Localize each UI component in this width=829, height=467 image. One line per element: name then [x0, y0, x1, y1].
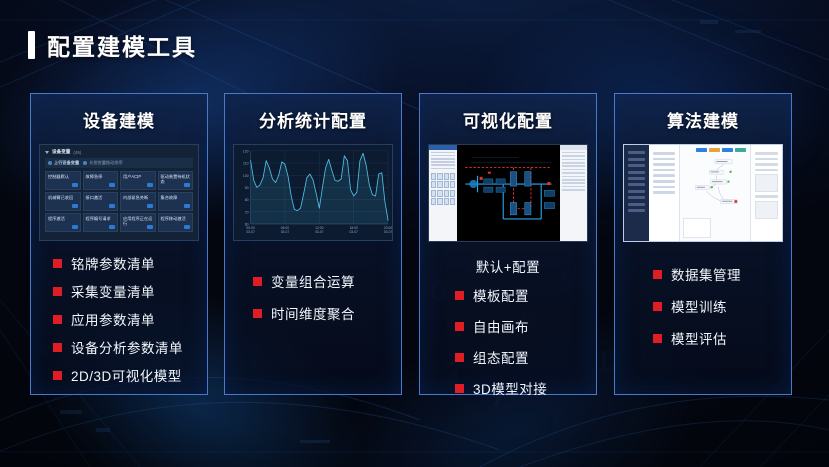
palette-swatch[interactable] — [450, 181, 455, 188]
bullet-square-icon — [653, 270, 662, 279]
info-icon — [83, 161, 87, 165]
status-badge — [72, 204, 78, 209]
component-list-item[interactable] — [653, 191, 676, 194]
variable-cell-label: 用户A口P — [123, 174, 141, 179]
variable-cell[interactable]: 故障急停 — [83, 171, 119, 190]
pipeline-diagram — [457, 145, 560, 242]
status-badge — [184, 183, 190, 188]
list-item-label: 模板配置 — [473, 285, 529, 305]
list-item-label: 数据集管理 — [671, 264, 741, 284]
card-algorithm-modeling[interactable]: 算法建模 — [614, 93, 792, 395]
list-item-label: 自由画布 — [473, 316, 529, 336]
variable-cell[interactable]: 用户A口P — [120, 171, 156, 190]
list-item-label: 采集变量清单 — [71, 281, 155, 301]
status-badge — [184, 225, 190, 230]
svg-text:100: 100 — [243, 174, 249, 178]
status-badge — [109, 183, 115, 188]
flow-graph — [680, 145, 750, 213]
list-item: 铭牌参数清单 — [53, 253, 207, 273]
bullet-square-icon — [455, 353, 464, 362]
svg-text:03-07: 03-07 — [246, 230, 255, 234]
card-header: 设备建模 — [31, 94, 207, 144]
variable-cell[interactable]: 程序移动激活 — [158, 213, 194, 232]
bullet-square-icon — [53, 371, 62, 380]
bullet-square-icon — [253, 277, 262, 286]
title-accent-bar — [28, 31, 35, 59]
palette-swatch[interactable] — [431, 173, 436, 180]
property-row — [562, 179, 585, 181]
component-list-item[interactable] — [653, 174, 676, 177]
card-screenshot-flow-editor[interactable] — [623, 144, 783, 242]
component-list-item[interactable] — [653, 152, 676, 155]
shape-palette[interactable] — [429, 171, 457, 207]
editor-canvas[interactable] — [457, 145, 560, 241]
property-row — [562, 176, 585, 178]
palette-swatch[interactable] — [437, 181, 442, 188]
list-item: 变量组合运算 — [253, 271, 401, 291]
palette-swatch[interactable] — [450, 190, 455, 197]
sidebar-item[interactable] — [628, 151, 645, 154]
app-sidebar[interactable] — [624, 145, 649, 241]
palette-swatch[interactable] — [431, 198, 436, 205]
chevron-down-icon[interactable] — [45, 151, 49, 154]
panel-title-row: 设备变量 (49) — [45, 149, 193, 155]
variable-cell[interactable]: 驱动装置待机状态 — [158, 171, 194, 190]
card-subheading: 默认+配置 — [420, 256, 596, 276]
card-device-modeling[interactable]: 设备建模 设备变量 (49) 上行设备变量 长按变量拖动排序 — [30, 93, 208, 395]
property-row — [562, 165, 585, 167]
variable-cell-grid: 控制器默认 故障急停 用户A口P 驱动装置待机状态 机械臂已收回 接口激活 内部… — [45, 171, 193, 232]
palette-swatch[interactable] — [444, 173, 449, 180]
variable-cell[interactable]: 应用程序正在运行 — [120, 213, 156, 232]
list-item: 应用参数清单 — [53, 309, 207, 329]
variable-cell-label: 程序移动激活 — [161, 216, 186, 221]
inspector-row — [755, 152, 778, 155]
property-row — [562, 159, 585, 161]
bullet-square-icon — [455, 322, 464, 331]
card-header: 分析统计配置 — [225, 94, 401, 144]
list-item-label: 设备分析参数清单 — [71, 337, 183, 357]
status-badge — [184, 204, 190, 209]
palette-swatch[interactable] — [431, 190, 436, 197]
card-screenshot-scada-editor[interactable] — [428, 144, 588, 242]
sidebar-item[interactable] — [628, 158, 645, 161]
sidebar-item[interactable] — [628, 209, 645, 212]
svg-text:80: 80 — [245, 198, 249, 202]
component-list-item[interactable] — [653, 163, 676, 166]
bullet-square-icon — [653, 302, 662, 311]
component-list-item[interactable] — [653, 180, 676, 183]
card-screenshot-device-variable-table[interactable]: 设备变量 (49) 上行设备变量 长按变量拖动排序 控制器默认 故障急停 — [39, 144, 199, 241]
list-item-label: 变量组合运算 — [271, 271, 355, 291]
inspector-row — [755, 169, 778, 172]
variable-cell[interactable]: 接口激活 — [83, 192, 119, 211]
svg-text:120: 120 — [243, 149, 249, 153]
toolbar-button-publish[interactable] — [722, 148, 733, 152]
list-item-label: 模型训练 — [671, 296, 727, 316]
property-row — [562, 155, 585, 157]
page-title: 配置建模工具 — [47, 28, 197, 62]
card-grid: 设备建模 设备变量 (49) 上行设备变量 长按变量拖动排序 — [0, 93, 829, 396]
list-item: 采集变量清单 — [53, 281, 207, 301]
list-item-label: 2D/3D可视化模型 — [71, 365, 182, 385]
variable-cell[interactable]: 控制器默认 — [45, 171, 81, 190]
card-analysis-statistics[interactable]: 分析统计配置 6070809010011012000:0003-0706:000… — [224, 93, 402, 395]
property-row — [562, 182, 585, 184]
inspector-row — [755, 195, 778, 198]
panel-row — [431, 152, 455, 154]
card-bullet-list: 数据集管理 模型训练 模型评估 — [615, 242, 791, 348]
page-header: 配置建模工具 — [28, 28, 197, 62]
list-item-label: 模型评估 — [671, 328, 727, 348]
bullet-square-icon — [53, 259, 62, 268]
palette-swatch[interactable] — [431, 181, 436, 188]
variable-cell-label: 故障急停 — [86, 174, 103, 179]
component-list-item[interactable] — [653, 158, 676, 161]
palette-swatch[interactable] — [444, 190, 449, 197]
panel-title: 设备变量 — [52, 149, 70, 155]
sidebar-item[interactable] — [628, 196, 645, 199]
list-item-label: 3D模型对接 — [473, 378, 547, 398]
sidebar-item[interactable] — [628, 183, 645, 186]
variable-cell[interactable]: 机械臂已收回 — [45, 192, 81, 211]
list-item-label: 组态配置 — [473, 347, 529, 367]
flow-canvas[interactable] — [680, 145, 750, 241]
list-item: 数据集管理 — [653, 264, 791, 284]
bullet-square-icon — [653, 334, 662, 343]
card-title: 分析统计配置 — [259, 107, 367, 132]
list-item: 组态配置 — [455, 347, 596, 367]
svg-text:90: 90 — [245, 186, 249, 190]
variable-cell-label: 接口激活 — [86, 195, 103, 200]
bullet-square-icon — [53, 287, 62, 296]
variable-cell-label: 机械臂已收回 — [48, 195, 73, 200]
status-badge — [109, 204, 115, 209]
component-list-item[interactable] — [653, 186, 676, 189]
svg-text:70: 70 — [245, 210, 249, 214]
panel-row — [431, 164, 455, 166]
variable-cell-label: 程序激活 — [48, 216, 65, 221]
component-list-item[interactable] — [653, 169, 676, 172]
svg-text:03-07: 03-07 — [315, 230, 324, 234]
editor-right-panel[interactable] — [560, 145, 587, 241]
list-item: 2D/3D可视化模型 — [53, 365, 207, 385]
property-row — [562, 172, 585, 174]
bullet-square-icon — [455, 291, 464, 300]
list-item: 模型训练 — [653, 296, 791, 316]
editor-left-panel[interactable] — [429, 145, 457, 241]
palette-swatch[interactable] — [450, 173, 455, 180]
component-list-panel[interactable] — [649, 145, 681, 241]
panel-row — [431, 161, 455, 163]
card-screenshot-line-chart[interactable]: 6070809010011012000:0003-0706:0003-0712:… — [233, 144, 393, 241]
panel-titlebar — [560, 145, 587, 150]
svg-text:03-07: 03-07 — [384, 230, 392, 234]
palette-swatch[interactable] — [437, 198, 442, 205]
card-header: 可视化配置 — [420, 94, 596, 144]
palette-swatch[interactable] — [450, 198, 455, 205]
status-badge — [147, 225, 153, 230]
variable-cell[interactable]: 内部紧急关断 — [120, 192, 156, 211]
tag-icon — [48, 161, 52, 165]
variable-cell-label: 控制器默认 — [48, 174, 69, 179]
list-item-label: 铭牌参数清单 — [71, 253, 155, 273]
card-title: 设备建模 — [83, 107, 155, 132]
palette-swatch[interactable] — [437, 173, 442, 180]
toolbar-button-save[interactable] — [709, 148, 720, 152]
panel-row — [431, 158, 455, 160]
panel-row — [431, 155, 455, 157]
card-title: 可视化配置 — [463, 107, 553, 132]
bullet-square-icon — [53, 343, 62, 352]
list-item-label: 时间维度聚合 — [271, 303, 355, 323]
svg-text:03-07: 03-07 — [349, 230, 358, 234]
list-item: 模板配置 — [455, 285, 596, 305]
palette-swatch[interactable] — [437, 190, 442, 197]
panel-titlebar — [429, 145, 457, 150]
list-item: 设备分析参数清单 — [53, 337, 207, 357]
inspector-row — [755, 163, 778, 166]
sidebar-item[interactable] — [628, 164, 645, 167]
card-bullet-list: 变量组合运算 时间维度聚合 — [225, 241, 401, 323]
trend-line-chart: 6070809010011012000:0003-0706:0003-0712:… — [234, 145, 392, 240]
drag-sort-label: 长按变量拖动排序 — [89, 160, 123, 166]
bullet-square-icon — [53, 315, 62, 324]
variable-cell-label: 集合故障 — [161, 195, 178, 200]
status-badge — [72, 183, 78, 188]
canvas-toolbar[interactable] — [696, 148, 746, 152]
panel-row — [431, 168, 455, 170]
status-badge — [109, 225, 115, 230]
sidebar-item[interactable] — [628, 177, 645, 180]
list-item: 自由画布 — [455, 316, 596, 336]
minimap[interactable] — [683, 218, 711, 238]
palette-swatch[interactable] — [444, 198, 449, 205]
svg-text:110: 110 — [243, 162, 249, 166]
card-bullet-list: 默认+配置 模板配置 自由画布 组态配置 3D模型对接 — [420, 242, 596, 398]
status-badge — [147, 183, 153, 188]
card-bullet-list: 铭牌参数清单 采集变量清单 应用参数清单 设备分析参数清单 2D/3D可视化模型 — [31, 241, 207, 385]
svg-text:03-07: 03-07 — [281, 230, 290, 234]
sidebar-item[interactable] — [628, 190, 645, 193]
drag-sort-hint: 长按变量拖动排序 — [83, 160, 123, 166]
property-row — [562, 189, 585, 191]
property-row — [562, 152, 585, 154]
variable-cell[interactable]: 集合故障 — [158, 192, 194, 211]
inspector-row — [755, 158, 778, 161]
card-header: 算法建模 — [615, 94, 791, 144]
variable-cell[interactable]: 程序激活 — [45, 213, 81, 232]
sidebar-item[interactable] — [628, 203, 645, 206]
variable-cell-label: 程序编号请求 — [86, 216, 111, 221]
list-item-label: 应用参数清单 — [71, 309, 155, 329]
upstream-variable-chip[interactable]: 上行设备变量 — [48, 160, 79, 166]
toolbar-button-export[interactable] — [735, 148, 746, 152]
variable-cell[interactable]: 程序编号请求 — [83, 213, 119, 232]
list-item: 时间维度聚合 — [253, 303, 401, 323]
property-row — [562, 186, 585, 188]
panel-count: (49) — [73, 150, 81, 155]
panel-toolbar: 上行设备变量 长按变量拖动排序 — [45, 158, 193, 168]
list-item: 模型评估 — [653, 328, 791, 348]
property-row — [562, 169, 585, 171]
property-row — [562, 162, 585, 164]
upstream-variable-label: 上行设备变量 — [54, 160, 79, 166]
variable-cell-label: 内部紧急关断 — [123, 195, 148, 200]
status-badge — [147, 204, 153, 209]
sidebar-item[interactable] — [628, 171, 645, 174]
inspector-panel[interactable] — [750, 145, 782, 241]
list-item: 3D模型对接 — [455, 378, 596, 398]
status-badge — [72, 225, 78, 230]
bullet-square-icon — [455, 384, 464, 393]
toolbar-button-run[interactable] — [696, 148, 707, 152]
card-visualization-config[interactable]: 可视化配置 — [419, 93, 597, 395]
card-title: 算法建模 — [667, 107, 739, 132]
bullet-square-icon — [253, 309, 262, 318]
palette-swatch[interactable] — [444, 181, 449, 188]
inspector-textarea[interactable] — [755, 201, 778, 219]
inspector-textarea[interactable] — [755, 174, 778, 192]
